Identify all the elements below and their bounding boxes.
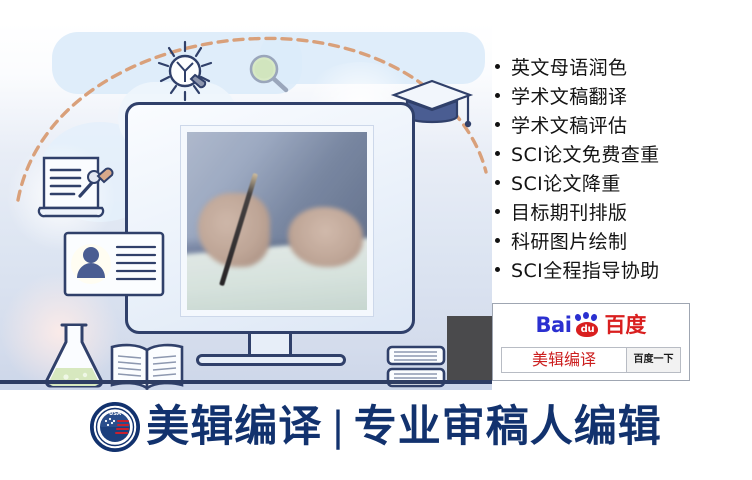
service-list-item: 英文母语润色: [495, 52, 745, 81]
service-label: SCI论文降重: [511, 169, 621, 196]
bullet-dot-icon: [495, 267, 500, 272]
service-list: 英文母语润色 学术文稿翻译 学术文稿评估 SCI论文免费查重 SCI论文降重 目…: [495, 52, 745, 284]
bullet-dot-icon: [495, 64, 500, 69]
service-label: 目标期刊排版: [511, 198, 627, 225]
writing-hands-photo: [187, 132, 367, 310]
brand-name: 美辑编译: [146, 406, 322, 449]
baidu-paw-icon: du: [572, 312, 602, 338]
brand-banner: USA 美辑编译 | 专业审稿人编辑: [0, 392, 752, 462]
service-label: 科研图片绘制: [511, 227, 627, 254]
brand-tagline: 专业审稿人编辑: [354, 406, 662, 449]
baidu-logo: Bai du 百度: [493, 308, 689, 342]
monitor-neck: [248, 334, 292, 356]
service-list-item: SCI论文降重: [495, 168, 745, 197]
bullet-dot-icon: [495, 209, 500, 214]
flask-icon: [40, 322, 108, 388]
service-list-item: 学术文稿翻译: [495, 81, 745, 110]
promo-banner-root: 英文母语润色 学术文稿翻译 学术文稿评估 SCI论文免费查重 SCI论文降重 目…: [0, 0, 752, 480]
monitor-base: [196, 354, 346, 366]
bullet-dot-icon: [495, 180, 500, 185]
service-list-item: 目标期刊排版: [495, 197, 745, 226]
baidu-search-card: Bai du 百度 美辑编译 百度一下: [492, 303, 690, 381]
baidu-paw-label: du: [576, 322, 598, 337]
desk-tower-block: [447, 316, 492, 384]
service-label: SCI论文免费查重: [511, 140, 660, 167]
baidu-search-row: 美辑编译 百度一下: [501, 347, 681, 373]
service-list-item: 学术文稿评估: [495, 110, 745, 139]
floor-line: [0, 380, 492, 384]
bullet-dot-icon: [495, 122, 500, 127]
seal-label: USA: [109, 411, 121, 417]
bullet-dot-icon: [495, 238, 500, 243]
monitor-frame: [125, 102, 415, 334]
scroll-pen-icon: [36, 150, 114, 220]
lightbulb-icon: [150, 38, 220, 108]
bullet-dot-icon: [495, 93, 500, 98]
illustration-scene: [0, 22, 492, 390]
service-list-item: SCI全程指导协助: [495, 255, 745, 284]
brand-separator: |: [331, 404, 344, 450]
service-label: 学术文稿翻译: [511, 82, 627, 109]
search-submit-button[interactable]: 百度一下: [627, 347, 681, 373]
usa-seal-logo-icon: USA: [90, 402, 140, 452]
bullet-dot-icon: [495, 151, 500, 156]
baidu-logo-latin: Bai: [536, 315, 572, 336]
service-label: 英文母语润色: [511, 53, 627, 80]
service-list-item: 科研图片绘制: [495, 226, 745, 255]
magnifier-icon: [245, 50, 293, 98]
service-list-item: SCI论文免费查重: [495, 139, 745, 168]
search-input[interactable]: 美辑编译: [501, 347, 627, 373]
monitor-screen: [180, 125, 374, 317]
baidu-logo-cn: 百度: [604, 315, 646, 336]
service-label: SCI全程指导协助: [511, 256, 660, 283]
service-label: 学术文稿评估: [511, 111, 627, 138]
id-card-icon: [62, 230, 166, 298]
